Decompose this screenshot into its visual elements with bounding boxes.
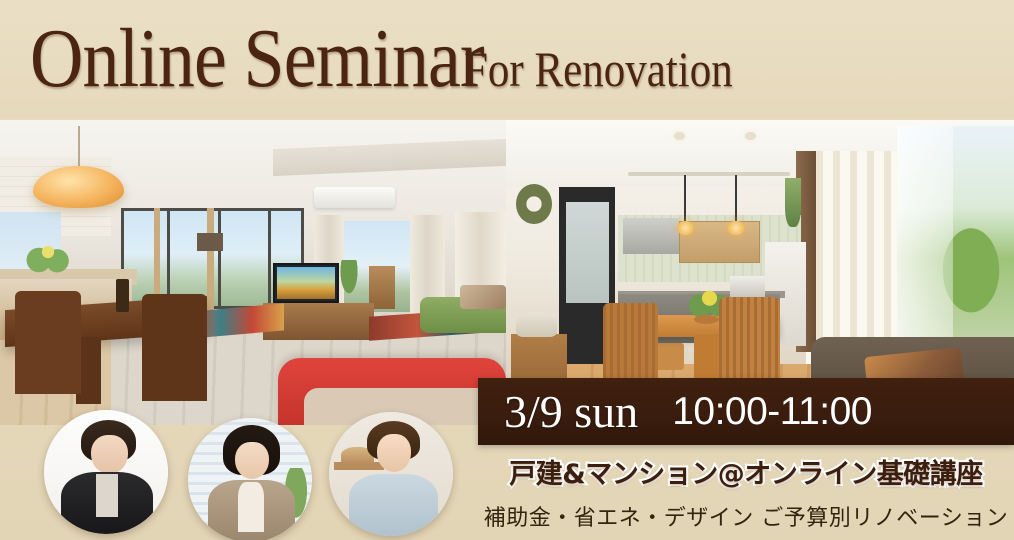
dining-chair	[142, 294, 208, 401]
presenter-portrait-3	[329, 412, 453, 536]
presenter-portrait-1	[44, 410, 168, 534]
seminar-headline: 戸建&マンション@オンライン基礎講座	[478, 452, 1014, 491]
presenter-portrait-2	[188, 418, 312, 540]
date-banner: 3/9 sun 10:00-11:00	[478, 378, 1014, 445]
air-conditioner	[314, 187, 395, 208]
pendant-light	[677, 221, 694, 235]
range-hood	[623, 218, 679, 255]
dining-chair	[15, 291, 81, 395]
pendant-lamp	[33, 166, 124, 209]
page-title: Online Seminar	[30, 17, 484, 101]
page-subtitle: For Renovation	[464, 44, 733, 94]
living-dining-room-photo	[0, 120, 506, 425]
seminar-subheadline: 補助金・省エネ・デザイン ご予算別リノベーション	[478, 500, 1014, 532]
downlight-icon	[745, 132, 756, 140]
television	[273, 263, 339, 303]
seminar-poster: Online Seminar For Renovation	[0, 0, 1014, 540]
downlight-icon	[674, 132, 685, 140]
wall-wreath	[516, 184, 552, 224]
seminar-date: 3/9 sun	[504, 389, 638, 435]
seminar-time: 10:00-11:00	[672, 392, 872, 431]
poster-header: Online Seminar For Renovation	[0, 0, 1014, 118]
header-title-group: Online Seminar For Renovation	[0, 17, 1014, 101]
pendant-light	[727, 221, 744, 235]
